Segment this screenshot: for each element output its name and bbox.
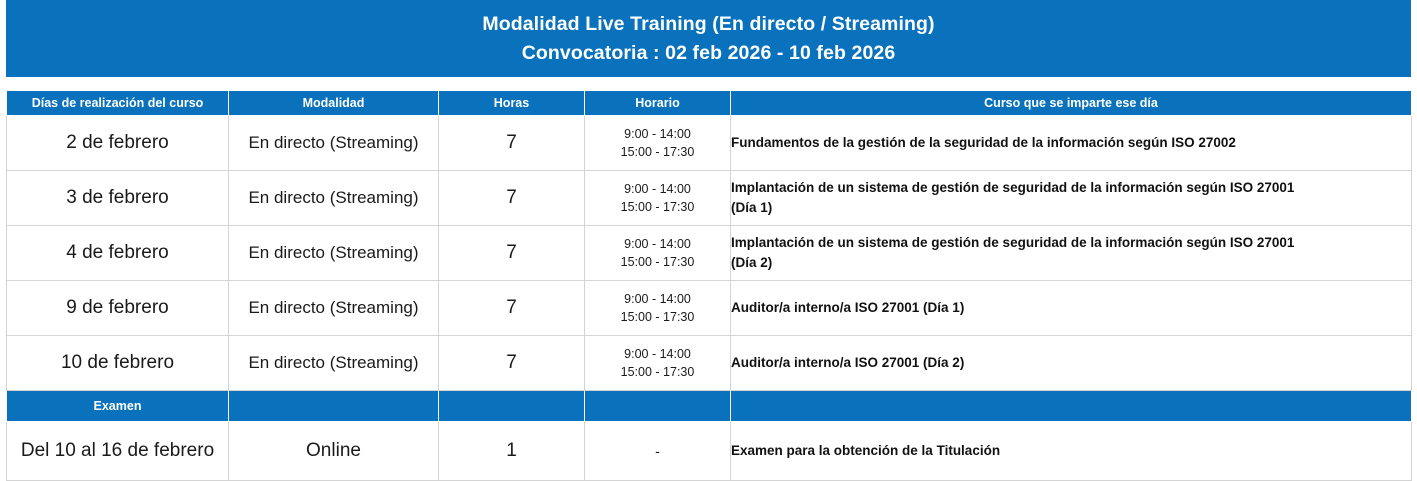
- exam-separator-blank-horas: [439, 391, 585, 422]
- cell-curso: Implantación de un sistema de gestión de…: [731, 171, 1412, 226]
- horario-morning: 9:00 - 14:00: [624, 292, 691, 306]
- cell-modalidad: En directo (Streaming): [229, 281, 439, 336]
- curso-line-1: Implantación de un sistema de gestión de…: [731, 180, 1294, 195]
- table-row: 4 de febrero En directo (Streaming) 7 9:…: [7, 226, 1412, 281]
- curso-line-1: Fundamentos de la gestión de la segurida…: [731, 135, 1236, 150]
- column-header-curso: Curso que se imparte ese día: [731, 91, 1412, 116]
- cell-curso: Implantación de un sistema de gestión de…: [731, 226, 1412, 281]
- exam-separator-blank-horario: [585, 391, 731, 422]
- cell-curso: Auditor/a interno/a ISO 27001 (Día 1): [731, 281, 1412, 336]
- cell-modalidad: En directo (Streaming): [229, 116, 439, 171]
- schedule-table: Días de realización del curso Modalidad …: [6, 90, 1412, 481]
- cell-curso: Auditor/a interno/a ISO 27001 (Día 2): [731, 336, 1412, 391]
- horario-morning: 9:00 - 14:00: [624, 237, 691, 251]
- cell-curso: Fundamentos de la gestión de la segurida…: [731, 116, 1412, 171]
- cell-horario: 9:00 - 14:00 15:00 - 17:30: [585, 116, 731, 171]
- curso-line-1: Auditor/a interno/a ISO 27001 (Día 2): [731, 355, 964, 370]
- cell-dia: 3 de febrero: [7, 171, 229, 226]
- column-header-modalidad: Modalidad: [229, 91, 439, 116]
- horario-afternoon: 15:00 - 17:30: [585, 198, 730, 216]
- table-row: 2 de febrero En directo (Streaming) 7 9:…: [7, 116, 1412, 171]
- cell-horario: 9:00 - 14:00 15:00 - 17:30: [585, 171, 731, 226]
- horario-afternoon: 15:00 - 17:30: [585, 308, 730, 326]
- table-row: 9 de febrero En directo (Streaming) 7 9:…: [7, 281, 1412, 336]
- curso-line-2: (Día 1): [731, 198, 1411, 218]
- curso-line-2: (Día 2): [731, 253, 1411, 273]
- column-header-horas: Horas: [439, 91, 585, 116]
- horario-afternoon: 15:00 - 17:30: [585, 253, 730, 271]
- course-banner: Modalidad Live Training (En directo / St…: [6, 0, 1411, 77]
- exam-separator-row: Examen: [7, 391, 1412, 422]
- cell-modalidad: En directo (Streaming): [229, 171, 439, 226]
- cell-horas: 7: [439, 226, 585, 281]
- horario-afternoon: 15:00 - 17:30: [585, 363, 730, 381]
- column-header-dias: Días de realización del curso: [7, 91, 229, 116]
- cell-horario: 9:00 - 14:00 15:00 - 17:30: [585, 226, 731, 281]
- banner-subtitle: Convocatoria : 02 feb 2026 - 10 feb 2026: [522, 42, 896, 64]
- cell-horas: 7: [439, 336, 585, 391]
- cell-horas: 7: [439, 281, 585, 336]
- cell-modalidad: En directo (Streaming): [229, 226, 439, 281]
- horario-afternoon: 15:00 - 17:30: [585, 143, 730, 161]
- cell-dia: 4 de febrero: [7, 226, 229, 281]
- cell-dia: 9 de febrero: [7, 281, 229, 336]
- exam-separator-blank-modalidad: [229, 391, 439, 422]
- schedule-page: Modalidad Live Training (En directo / St…: [0, 0, 1417, 472]
- exam-separator-blank-curso: [731, 391, 1412, 422]
- table-row: 10 de febrero En directo (Streaming) 7 9…: [7, 336, 1412, 391]
- exam-separator-label: Examen: [7, 391, 229, 422]
- curso-line-1: Implantación de un sistema de gestión de…: [731, 235, 1294, 250]
- cell-horario: 9:00 - 14:00 15:00 - 17:30: [585, 281, 731, 336]
- curso-line-1: Auditor/a interno/a ISO 27001 (Día 1): [731, 300, 964, 315]
- banner-title: Modalidad Live Training (En directo / St…: [482, 13, 934, 35]
- cell-horas: 7: [439, 171, 585, 226]
- column-header-horario: Horario: [585, 91, 731, 116]
- cell-modalidad: En directo (Streaming): [229, 336, 439, 391]
- table-header-row: Días de realización del curso Modalidad …: [7, 91, 1412, 116]
- horario-morning: 9:00 - 14:00: [624, 127, 691, 141]
- table-row: 3 de febrero En directo (Streaming) 7 9:…: [7, 171, 1412, 226]
- horario-morning: 9:00 - 14:00: [624, 182, 691, 196]
- cell-dia: 2 de febrero: [7, 116, 229, 171]
- cell-horas: 7: [439, 116, 585, 171]
- cell-dia: 10 de febrero: [7, 336, 229, 391]
- horario-morning: 9:00 - 14:00: [624, 347, 691, 361]
- cell-horario: 9:00 - 14:00 15:00 - 17:30: [585, 336, 731, 391]
